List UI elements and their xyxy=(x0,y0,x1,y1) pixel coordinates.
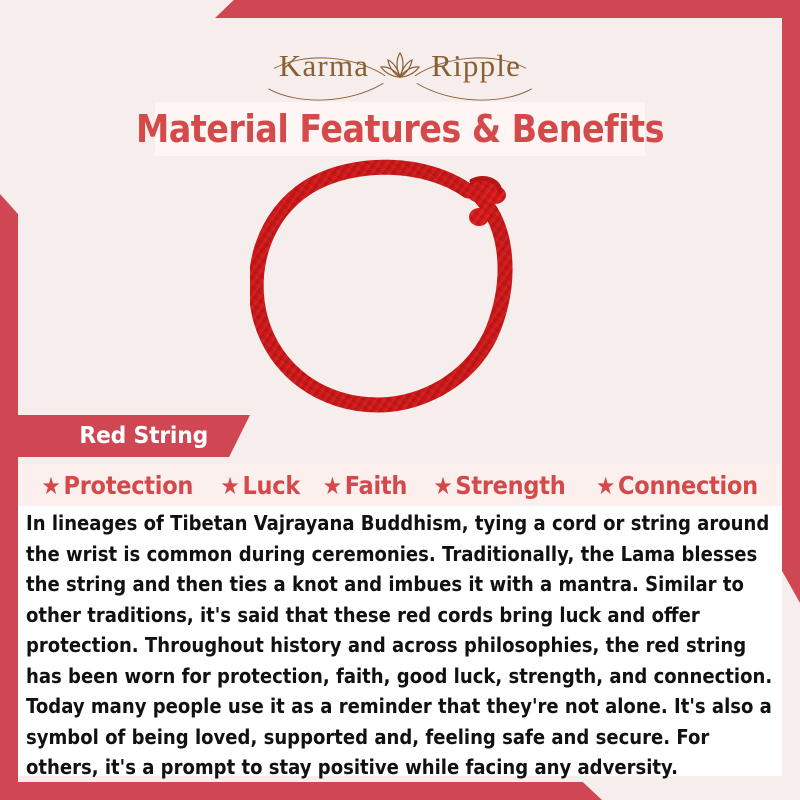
feature-item-strength: ★ Strength xyxy=(433,471,565,500)
decor-bar-left xyxy=(0,194,18,782)
feature-list: ★ Protection ★ Luck ★ Faith ★ Strength ★… xyxy=(18,464,782,506)
star-icon: ★ xyxy=(220,474,239,498)
feature-label: Luck xyxy=(242,471,300,500)
description-text: In lineages of Tibetan Vajrayana Buddhis… xyxy=(26,508,774,783)
star-icon: ★ xyxy=(433,474,452,498)
page-title: Material Features & Benefits xyxy=(48,100,752,158)
brand-word-left: Karma xyxy=(279,50,369,81)
decor-bar-top-right xyxy=(215,0,800,18)
lotus-icon xyxy=(377,48,423,82)
feature-item-protection: ★ Protection xyxy=(42,471,194,500)
feature-label: Connection xyxy=(618,471,758,500)
product-image-area xyxy=(18,158,782,416)
feature-item-connection: ★ Connection xyxy=(596,471,758,500)
feature-item-faith: ★ Faith xyxy=(323,471,407,500)
material-ribbon: Red String xyxy=(18,415,250,457)
brand-word-right: Ripple xyxy=(431,50,521,81)
star-icon: ★ xyxy=(42,474,61,498)
red-string-bracelet-image xyxy=(250,159,550,415)
star-icon: ★ xyxy=(323,474,342,498)
brand-logo: Karma Ripple xyxy=(0,34,800,96)
feature-label: Strength xyxy=(455,471,565,500)
feature-label: Faith xyxy=(345,471,407,500)
feature-item-luck: ★ Luck xyxy=(220,471,300,500)
infographic-page: Karma Ripple Material Features & Benefit… xyxy=(0,0,800,800)
decor-bar-bottom-left xyxy=(0,782,602,800)
decor-bar-right xyxy=(782,18,800,603)
star-icon: ★ xyxy=(596,474,615,498)
feature-label: Protection xyxy=(64,471,194,500)
material-name: Red String xyxy=(79,423,208,449)
